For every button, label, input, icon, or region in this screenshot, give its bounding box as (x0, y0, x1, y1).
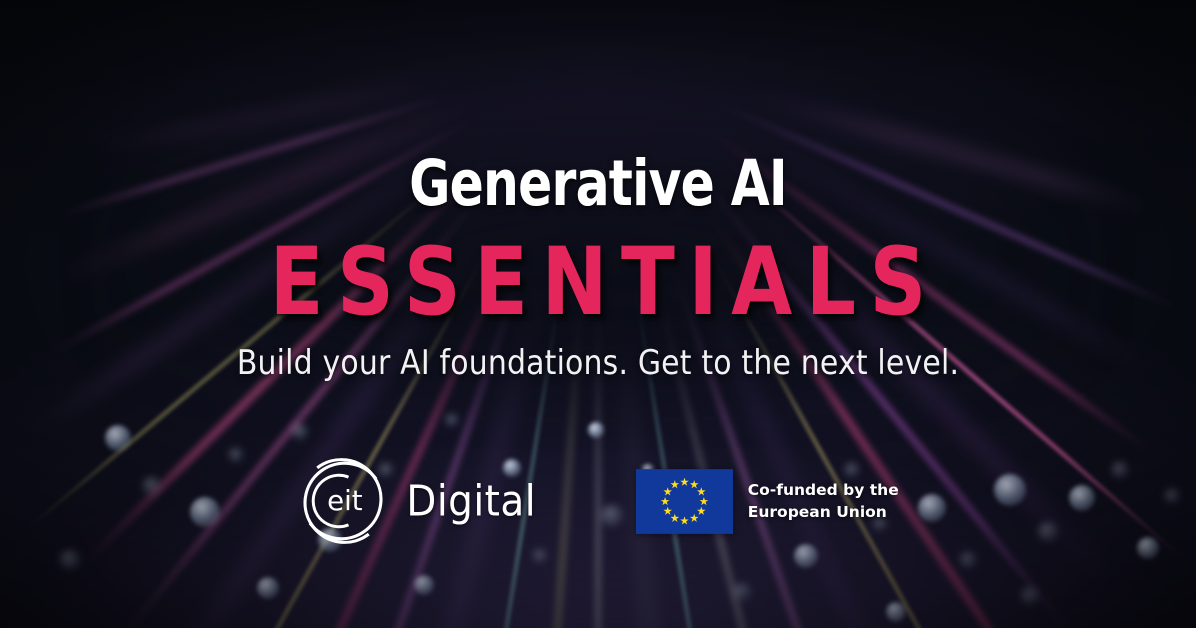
page-title: Generative AI (120, 152, 1077, 215)
eit-circle-logo-icon: eit (297, 455, 389, 547)
banner-content: Generative AI ESSENTIALS Build your AI f… (0, 0, 1196, 628)
headline-essentials: ESSENTIALS (96, 236, 1101, 330)
svg-text:eit: eit (327, 484, 363, 517)
promo-banner: Generative AI ESSENTIALS Build your AI f… (0, 0, 1196, 628)
eu-cofunding-line2: European Union (748, 501, 899, 523)
eit-digital-wordmark: Digital (407, 480, 537, 523)
logo-strip: eit Digital Co-funded by the European Un… (0, 455, 1196, 547)
eu-cofunding-text: Co-funded by the European Union (748, 479, 899, 524)
subtitle-tagline: Build your AI foundations. Get to the ne… (72, 345, 1124, 382)
eit-digital-logo: eit Digital (297, 455, 539, 547)
eu-cofunding-line1: Co-funded by the (748, 479, 899, 501)
european-union-flag-icon (636, 469, 733, 534)
eu-cofunding-block: Co-funded by the European Union (636, 469, 899, 534)
